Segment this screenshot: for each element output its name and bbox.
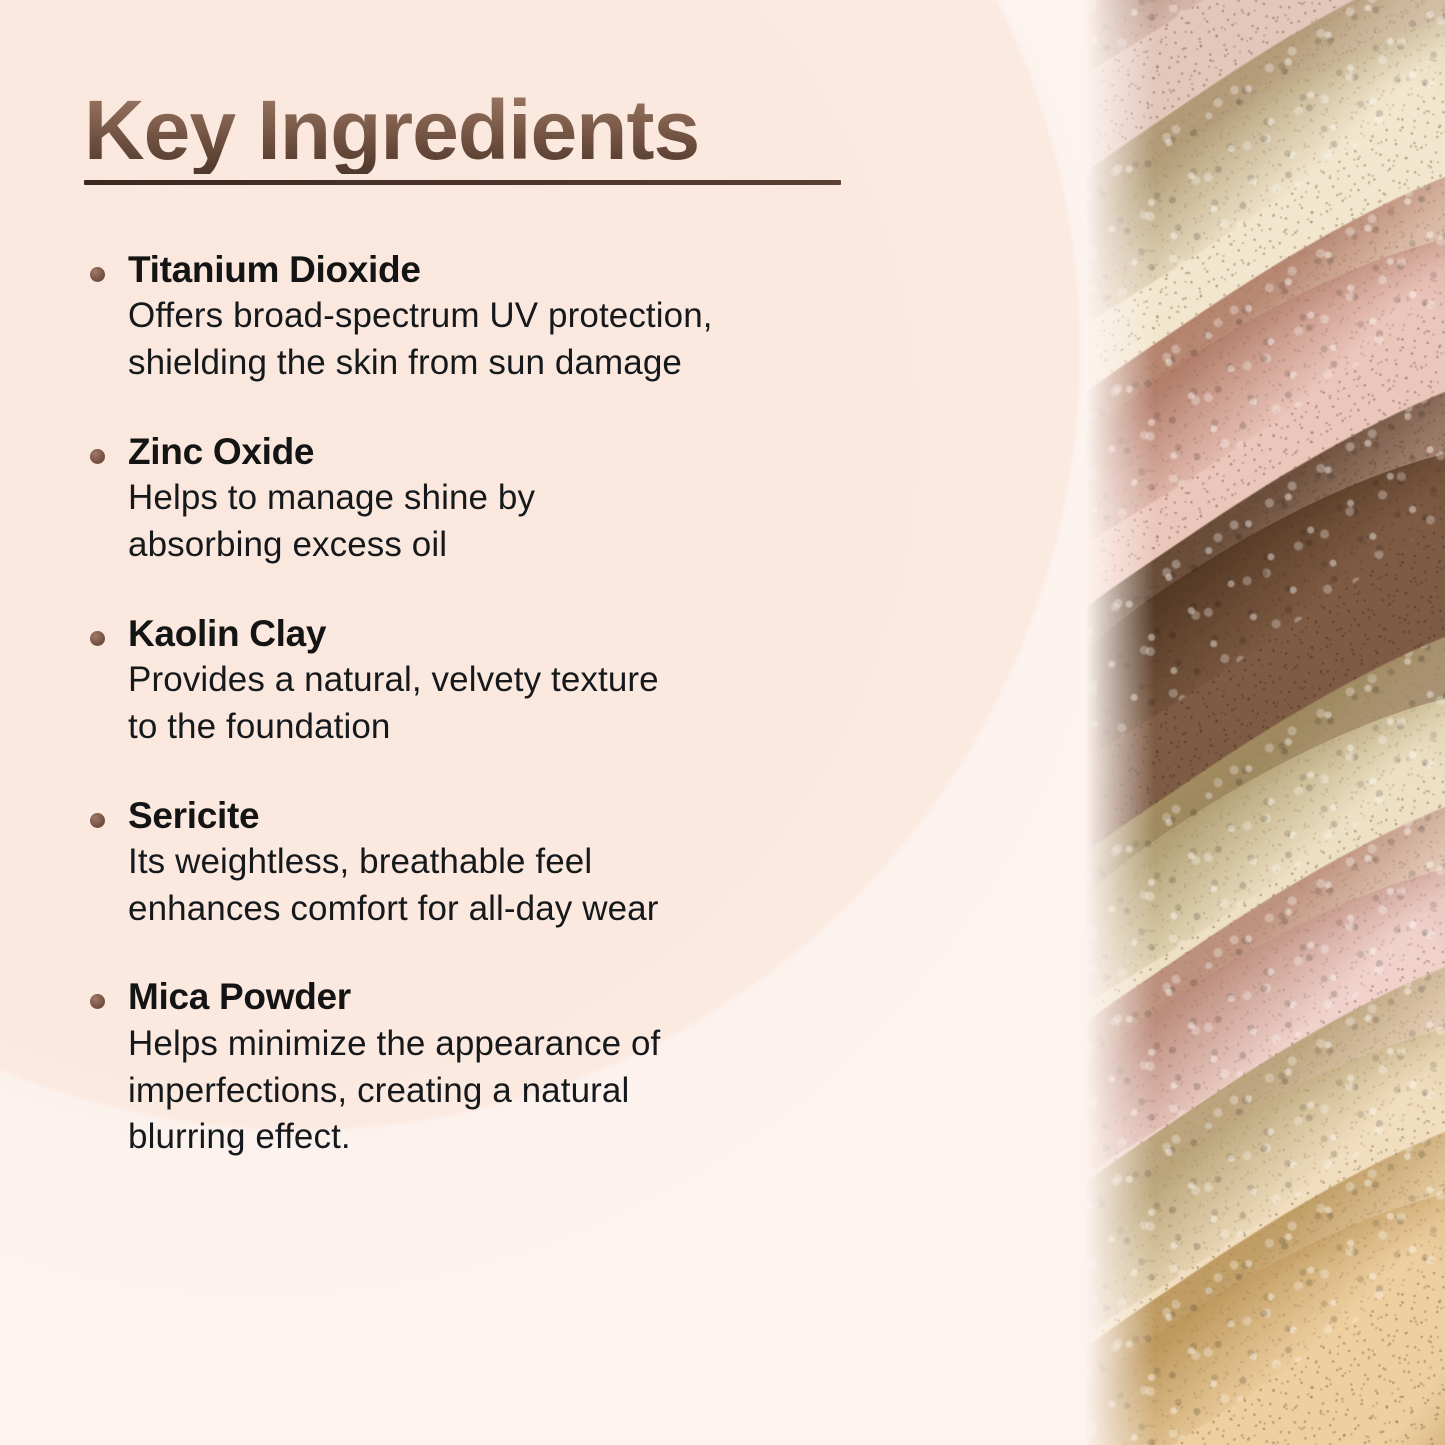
ingredients-list: Titanium Dioxide Offers broad-spectrum U… bbox=[84, 249, 964, 1162]
bullet-dot-icon bbox=[90, 994, 105, 1009]
bullet-dot-icon bbox=[90, 813, 105, 828]
ingredients-panel: Key Ingredients Titanium Dioxide Offers … bbox=[84, 88, 964, 1161]
ingredient-name: Titanium Dioxide bbox=[128, 249, 964, 291]
bullet-dot-icon bbox=[90, 631, 105, 646]
ingredient-name: Sericite bbox=[128, 795, 964, 837]
ingredient-description: Its weightless, breathable feel enhances… bbox=[128, 839, 964, 933]
ingredient-name: Zinc Oxide bbox=[128, 431, 964, 473]
bullet-dot-icon bbox=[90, 267, 105, 282]
list-item: Zinc Oxide Helps to manage shine by abso… bbox=[84, 431, 964, 569]
list-item: Titanium Dioxide Offers broad-spectrum U… bbox=[84, 249, 964, 387]
ingredient-name: Mica Powder bbox=[128, 976, 964, 1018]
ingredient-description: Helps minimize the appearance of imperfe… bbox=[128, 1021, 964, 1162]
page-title: Key Ingredients bbox=[84, 88, 841, 174]
title-underline bbox=[84, 180, 841, 185]
ingredient-description: Helps to manage shine by absorbing exces… bbox=[128, 475, 964, 569]
list-item: Kaolin Clay Provides a natural, velvety … bbox=[84, 613, 964, 751]
bullet-dot-icon bbox=[90, 449, 105, 464]
ingredient-description: Provides a natural, velvety texture to t… bbox=[128, 657, 964, 751]
list-item: Sericite Its weightless, breathable feel… bbox=[84, 795, 964, 933]
powder-swatch-column bbox=[1085, 0, 1445, 1445]
ingredient-description: Offers broad-spectrum UV protection, shi… bbox=[128, 293, 964, 387]
ingredient-name: Kaolin Clay bbox=[128, 613, 964, 655]
page-title-group: Key Ingredients bbox=[84, 88, 841, 185]
list-item: Mica Powder Helps minimize the appearanc… bbox=[84, 976, 964, 1161]
infographic-page: Key Ingredients Titanium Dioxide Offers … bbox=[0, 0, 1445, 1445]
